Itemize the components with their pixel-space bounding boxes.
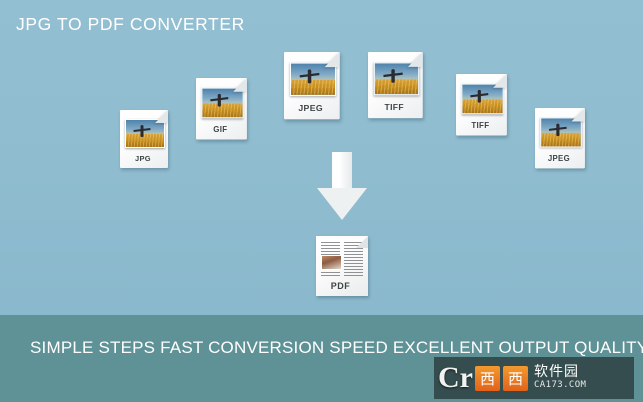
footer-tagline: SIMPLE STEPS FAST CONVERSION SPEED EXCEL… <box>30 338 643 358</box>
file-folded-corner <box>155 110 168 123</box>
file-label: JPEG <box>284 103 337 113</box>
pdf-embedded-image <box>321 255 342 270</box>
file-icon-gif: GIF <box>196 78 247 139</box>
file-folded-corner <box>571 108 585 122</box>
file-icon-tiff-1: TIFF <box>368 52 423 118</box>
file-folded-corner <box>408 52 423 67</box>
file-thumbnail <box>201 88 243 119</box>
file-thumbnail <box>461 84 503 115</box>
arrow-shaft <box>332 152 352 190</box>
pdf-folded-corner <box>356 236 368 248</box>
app-screenshot: JPG TO PDF CONVERTER JPGGIFJPEGTIFFTIFFJ… <box>0 0 643 402</box>
thumbnail-person-body <box>218 95 221 107</box>
arrow-head <box>317 188 367 220</box>
thumbnail-field <box>202 103 242 117</box>
thumbnail-field <box>126 134 164 147</box>
output-file-icon-pdf: PDF <box>316 236 368 296</box>
file-label: JPG <box>120 154 166 163</box>
watermark-site: 软件园 CA173.COM <box>534 365 586 391</box>
pdf-label: PDF <box>316 281 365 291</box>
file-icon-tiff-2: TIFF <box>456 74 507 135</box>
file-icon-jpeg-1: JPEG <box>284 52 340 119</box>
file-label: JPEG <box>535 154 583 163</box>
conversion-arrow-icon <box>317 152 367 220</box>
watermark-cr-mark: Cr <box>438 363 473 393</box>
thumbnail-field <box>541 133 581 146</box>
file-folded-corner <box>493 74 507 88</box>
file-thumbnail <box>374 62 420 95</box>
watermark-site-name: 软件园 <box>534 365 586 380</box>
thumbnail-person-body <box>141 126 144 137</box>
file-thumbnail <box>290 62 336 96</box>
file-label: TIFF <box>368 102 420 112</box>
thumbnail-person-body <box>557 125 560 136</box>
thumbnail-person-body <box>478 91 481 103</box>
file-label: GIF <box>196 125 245 135</box>
file-thumbnail <box>540 117 582 147</box>
file-label: TIFF <box>456 121 505 131</box>
watermark-box-2: 西 <box>503 366 528 391</box>
file-folded-corner <box>325 52 340 67</box>
thumbnail-person-body <box>308 70 311 83</box>
watermark-site-url: CA173.COM <box>534 380 586 391</box>
file-icon-jpeg-2: JPEG <box>535 108 585 168</box>
watermark-logo: Cr 西 西 软件园 CA173.COM <box>434 357 634 399</box>
file-icon-jpg: JPG <box>120 110 168 168</box>
watermark-box-1: 西 <box>475 366 500 391</box>
thumbnail-field <box>375 79 418 94</box>
page-title: JPG TO PDF CONVERTER <box>16 14 245 35</box>
file-folded-corner <box>233 78 247 92</box>
hero-panel: JPG TO PDF CONVERTER JPGGIFJPEGTIFFTIFFJ… <box>0 0 643 315</box>
file-thumbnail <box>125 119 165 148</box>
thumbnail-person-body <box>392 70 395 83</box>
thumbnail-field <box>462 99 502 113</box>
thumbnail-field <box>291 80 335 95</box>
